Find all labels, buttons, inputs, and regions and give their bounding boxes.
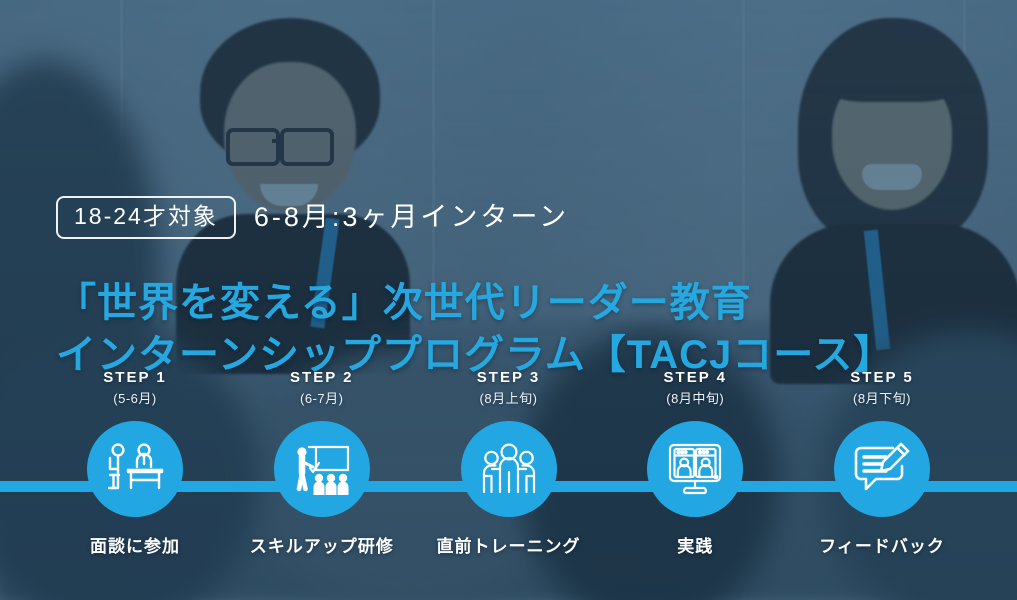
headline-line-1: 「世界を変える」次世代リーダー教育 <box>56 281 752 325</box>
step-period: (5-6月) <box>113 392 156 405</box>
step-label: 面談に参加 <box>90 532 180 557</box>
page-title: 「世界を変える」次世代リーダー教育 インターンシッププログラム【TACJコース】 <box>56 277 894 381</box>
kicker-row: 18-24才対象 6-8月:3ヶ月インターン <box>56 196 569 239</box>
step-number: STEP 2 <box>290 370 353 385</box>
timeline-step-3[interactable]: STEP 3 (8月上旬) <box>436 370 582 570</box>
step-icon-circle[interactable] <box>461 421 557 517</box>
speech-bubble-pencil-icon <box>853 442 911 496</box>
step-period: (8月上旬) <box>480 392 538 405</box>
step-number: STEP 3 <box>477 370 540 385</box>
step-number: STEP 4 <box>664 370 727 385</box>
age-badge: 18-24才対象 <box>56 196 236 239</box>
step-period: (8月下旬) <box>853 392 911 405</box>
program-period-kicker: 6-8月:3ヶ月インターン <box>254 204 569 231</box>
step-icon-circle[interactable] <box>647 421 743 517</box>
video-call-monitor-icon <box>667 442 723 496</box>
banner-content: 18-24才対象 6-8月:3ヶ月インターン 「世界を変える」次世代リーダー教育… <box>0 0 1017 600</box>
step-number: STEP 1 <box>103 370 166 385</box>
step-period: (8月中旬) <box>666 392 724 405</box>
timeline-step-4[interactable]: STEP 4 (8月中旬) <box>622 370 768 570</box>
timeline-step-5[interactable]: STEP 5 (8月下旬) <box>809 370 955 570</box>
timeline-steps: STEP 1 (5-6月) <box>0 370 1017 570</box>
steps-timeline: STEP 1 (5-6月) <box>0 370 1017 570</box>
step-period: (6-7月) <box>300 392 343 405</box>
interview-desk-icon <box>106 442 164 496</box>
step-label: 実践 <box>677 532 713 557</box>
step-label: フィードバック <box>819 532 945 557</box>
step-icon-circle[interactable] <box>834 421 930 517</box>
step-label: 直前トレーニング <box>437 532 581 557</box>
step-icon-circle[interactable] <box>274 421 370 517</box>
step-icon-circle[interactable] <box>87 421 183 517</box>
step-label: スキルアップ研修 <box>250 532 394 557</box>
presentation-whiteboard-icon <box>293 442 351 496</box>
promo-banner: 18-24才対象 6-8月:3ヶ月インターン 「世界を変える」次世代リーダー教育… <box>0 0 1017 600</box>
three-people-group-icon <box>481 442 537 496</box>
step-number: STEP 5 <box>850 370 913 385</box>
timeline-step-1[interactable]: STEP 1 (5-6月) <box>62 370 208 570</box>
timeline-step-2[interactable]: STEP 2 (6-7月) <box>249 370 395 570</box>
